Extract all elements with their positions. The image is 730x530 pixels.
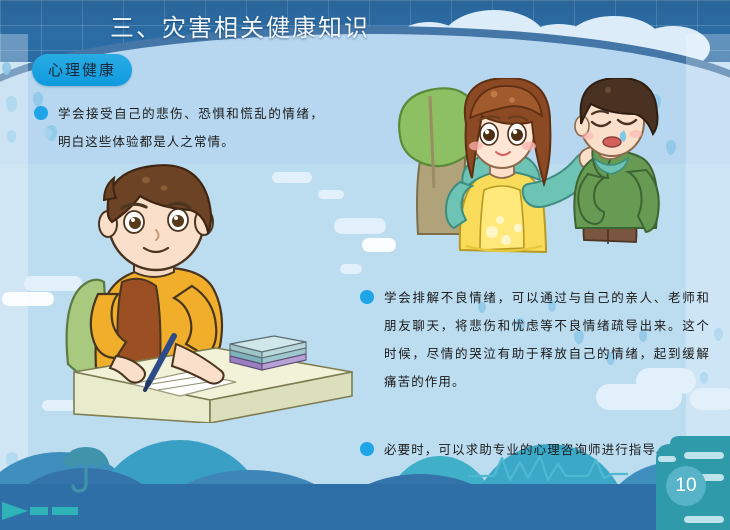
illustration-comfort-scene <box>388 78 688 303</box>
cloud-streak <box>2 292 54 306</box>
bullet-dot-icon <box>360 290 374 304</box>
bullet-dot-icon <box>360 442 374 456</box>
bullet-text: 学会排解不良情绪，可以通过与自己的亲人、老师和朋友聊天，将悲伤和忧虑等不良情绪疏… <box>384 284 710 396</box>
page-root: 三、灾害相关健康知识 心理健康 学会接受自己的悲伤、恐惧和慌乱的情绪，明白这些体… <box>0 0 730 530</box>
bullet-dot-icon <box>34 106 48 120</box>
bullet-text: 学会接受自己的悲伤、恐惧和慌乱的情绪，明白这些体验都是人之常情。 <box>58 100 324 156</box>
teal-arrow-icon <box>2 500 80 527</box>
page-number-badge: 10 <box>666 466 706 506</box>
illustration-boy-studying <box>60 158 360 423</box>
page-title: 三、灾害相关健康知识 <box>110 8 370 43</box>
bullet-item: 学会排解不良情绪，可以通过与自己的亲人、老师和朋友聊天，将悲伤和忧虑等不良情绪疏… <box>360 284 710 396</box>
bullet-item: 学会接受自己的悲伤、恐惧和慌乱的情绪，明白这些体验都是人之常情。 <box>34 100 324 156</box>
umbrella-icon <box>60 447 112 498</box>
section-badge: 心理健康 <box>32 54 132 86</box>
